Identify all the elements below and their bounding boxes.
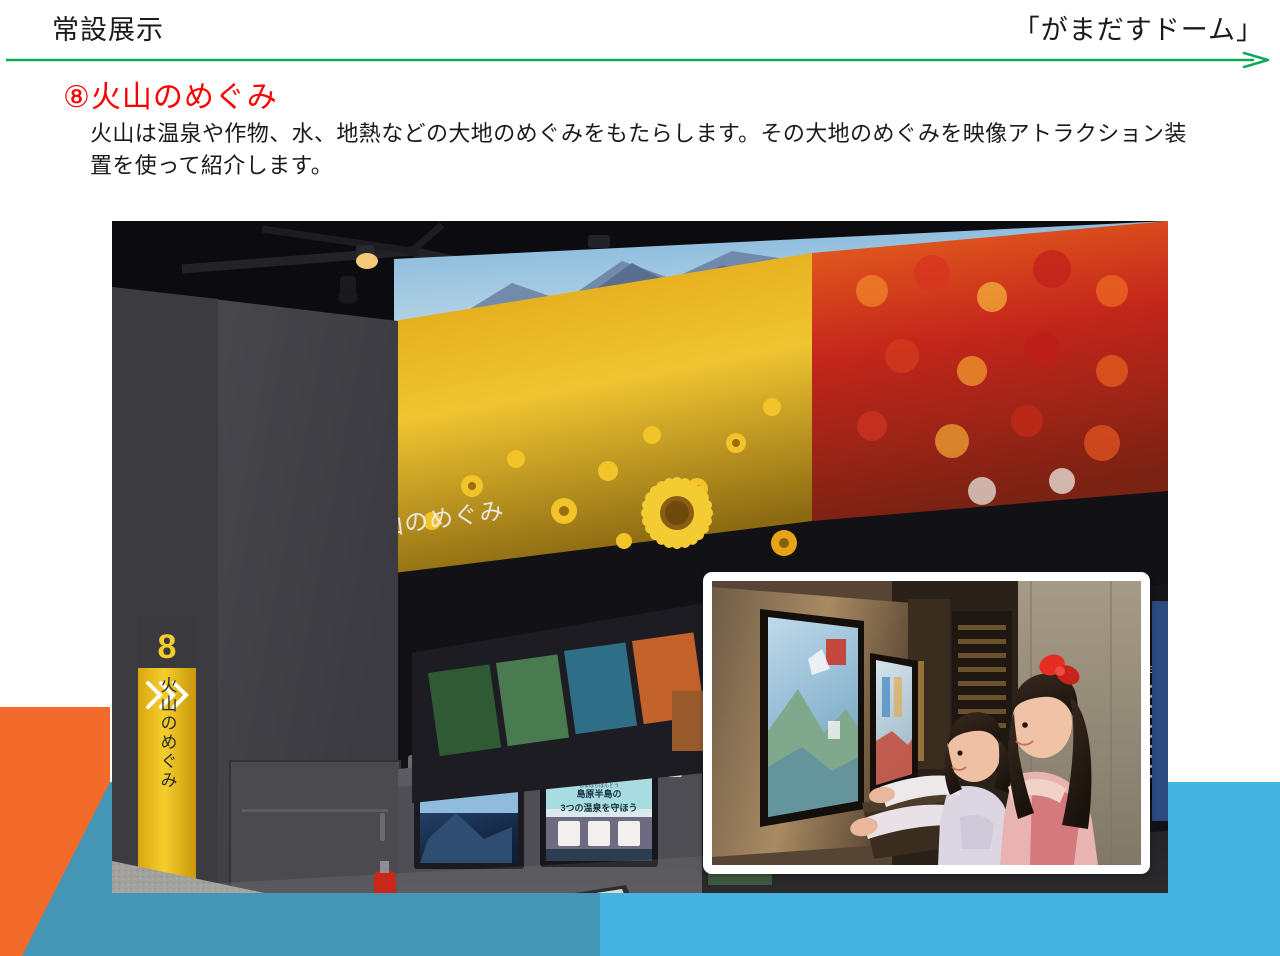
section-pillar: 8 火山のめぐみ [138, 616, 196, 893]
header-rule-arrow [6, 52, 1274, 68]
inset-screen-left [760, 609, 864, 827]
pillar-number: 8 [158, 628, 177, 666]
page-header: 常設展示 「がまだすドーム」 [0, 0, 1280, 62]
header-left-label: 常設展示 [52, 8, 164, 47]
pillar-label: 火山のめぐみ [158, 676, 178, 790]
svg-text:3つの温泉を守ほう: 3つの温泉を守ほう [560, 802, 637, 813]
svg-text:島原半島の: 島原半島の [576, 788, 621, 799]
inset-photo [712, 581, 1141, 865]
body-text: 火山は温泉や作物、水、地熱などの大地のめぐみをもたらします。その大地のめぐみを映… [90, 118, 1190, 182]
body-paragraph: 火山は温泉や作物、水、地熱などの大地のめぐみをもたらします。その大地のめぐみを映… [90, 118, 1190, 182]
header-right-label: 「がまだすドーム」 [1013, 8, 1264, 47]
inset-screen-right [870, 653, 918, 793]
section-title: ⑧火山のめぐみ [63, 72, 278, 116]
inset-photo-frame [703, 572, 1150, 874]
service-door [230, 761, 400, 893]
slide-root: 常設展示 「がまだすドーム」 ⑧火山のめぐみ 火山は温泉や作物、水、地熱などの大… [0, 0, 1280, 956]
